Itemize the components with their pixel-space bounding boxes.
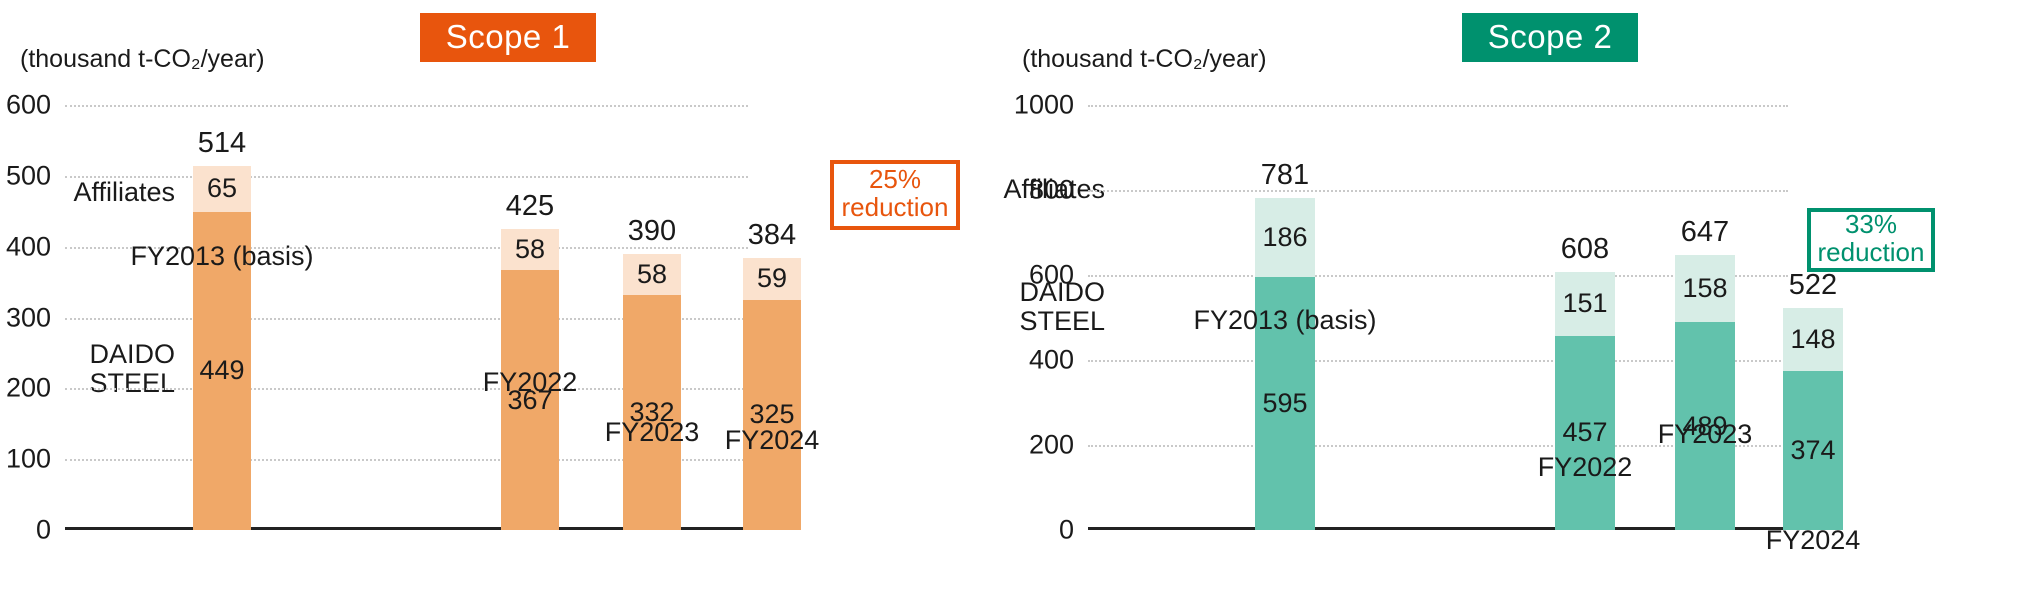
scope1-plot-area: 010020030040050060065449514FY2013 (basis… [65,105,748,530]
bar-column: 148374522FY2024 [1783,308,1843,530]
x-axis-category-label: FY2024 [1766,527,1861,554]
bar-total-label: 522 [1789,271,1837,300]
bar-total-label: 608 [1561,235,1609,264]
scope1-chart-panel: Scope 1 (thousand t-CO₂/year) 25% reduct… [0,0,1010,616]
bar-column: 58367425FY2022 [501,229,559,530]
y-axis-tick-label: 400 [1029,347,1074,374]
scope1-reduction-percent: 25% [869,166,921,194]
bar-segment-affiliates: 59 [743,258,801,300]
bar-segment-affiliates: 58 [623,254,681,295]
bar-column: 58332390FY2023 [623,254,681,530]
y-axis-tick-label: 0 [36,517,51,544]
scope1-unit-caption: (thousand t-CO₂/year) [20,47,265,72]
scope2-badge: Scope 2 [1462,13,1638,62]
scope1-reduction-word: reduction [842,194,949,222]
x-axis-category-label: FY2024 [725,427,820,454]
bar-column: 158489647FY2023 [1675,255,1735,530]
scope2-chart-panel: Scope 2 (thousand t-CO₂/year) 33% reduct… [1010,0,2040,616]
bar-segment-affiliates: 151 [1555,272,1615,336]
scope2-unit-caption: (thousand t-CO₂/year) [1022,47,1267,72]
bar-total-label: 514 [198,129,246,158]
y-axis-tick-label: 300 [6,304,51,331]
gridline [65,176,748,178]
bar-column: 186595781FY2013 (basis) [1255,198,1315,530]
bar-column: 151457608FY2022 [1555,272,1615,530]
bar-total-label: 781 [1261,161,1309,190]
gridline [1088,190,1788,192]
bar-segment-affiliates: 148 [1783,308,1843,371]
x-axis-category-label: FY2022 [1538,454,1633,481]
y-axis-tick-label: 600 [6,92,51,119]
y-axis-tick-label: 100 [6,446,51,473]
x-axis-category-label: FY2013 (basis) [1193,307,1376,334]
bar-total-label: 425 [506,192,554,221]
bar-column: 59325384FY2024 [743,258,801,530]
bar-segment-daido-steel: 332 [623,295,681,530]
bar-segment-affiliates: 158 [1675,255,1735,322]
scope2-reduction-word: reduction [1818,239,1925,267]
scope2-reduction-callout: 33% reduction [1807,208,1935,272]
y-axis-tick-label: 800 [1029,177,1074,204]
x-axis-category-label: FY2023 [1658,421,1753,448]
gridline [65,105,748,107]
bar-segment-daido-steel: 374 [1783,371,1843,530]
bar-segment-daido-steel: 367 [501,270,559,530]
y-axis-tick-label: 200 [6,375,51,402]
gridline [1088,105,1788,107]
bar-total-label: 384 [748,221,796,250]
bar-column: 65449514FY2013 (basis) [193,166,251,530]
y-axis-tick-label: 1000 [1014,92,1074,119]
bar-segment-affiliates: 58 [501,229,559,270]
scope2-plot-area: 02004006008001000186595781FY2013 (basis)… [1088,105,1788,530]
y-axis-tick-label: 400 [6,233,51,260]
bar-segment-daido-steel: 325 [743,300,801,530]
y-axis-tick-label: 500 [6,162,51,189]
x-axis-category-label: FY2013 (basis) [130,243,313,270]
scope2-reduction-percent: 33% [1845,211,1897,239]
bar-total-label: 390 [628,217,676,246]
x-axis-category-label: FY2023 [605,419,700,446]
bar-segment-affiliates: 186 [1255,198,1315,277]
scope1-badge: Scope 1 [420,13,596,62]
bar-total-label: 647 [1681,218,1729,247]
y-axis-tick-label: 600 [1029,262,1074,289]
x-axis-category-label: FY2022 [483,369,578,396]
scope1-reduction-callout: 25% reduction [830,160,960,230]
bar-segment-affiliates: 65 [193,166,251,212]
y-axis-tick-label: 0 [1059,517,1074,544]
bar-segment-daido-steel: 457 [1555,336,1615,530]
y-axis-tick-label: 200 [1029,432,1074,459]
